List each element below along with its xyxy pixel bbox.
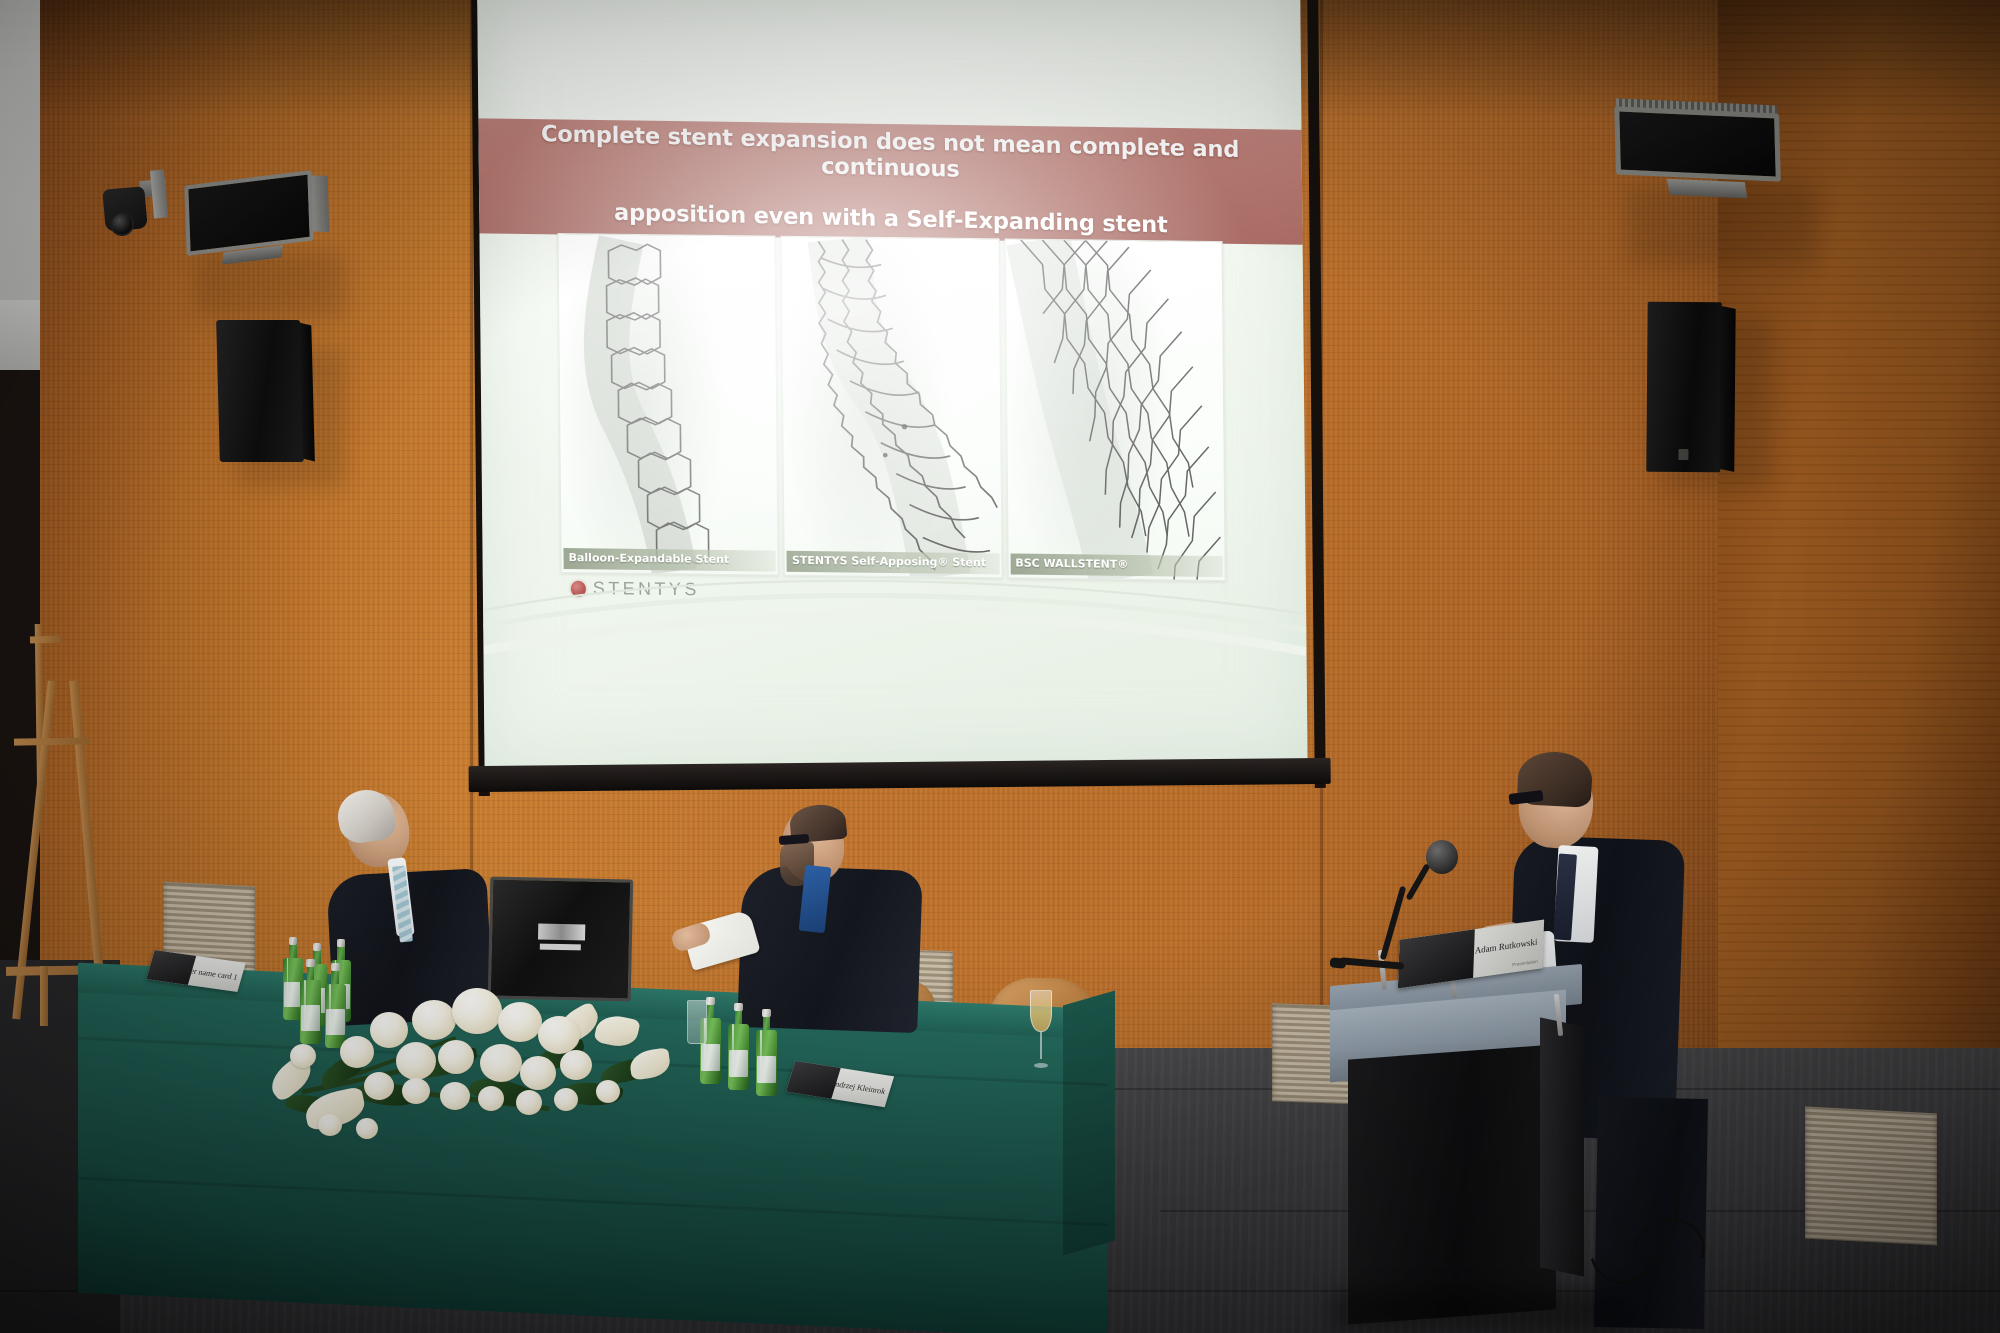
screen-surface: Complete stent expansion does not mean c… [477, 0, 1307, 771]
champagne-flute[interactable] [1030, 990, 1052, 1068]
water-bottle[interactable] [728, 1006, 749, 1090]
panel-table-right-face [1063, 991, 1115, 1256]
camera-lens-icon [110, 212, 134, 236]
balloon-expandable-stent-image [558, 234, 778, 575]
wall-vent [1805, 1107, 1937, 1246]
wall-left-white-lower [0, 300, 40, 370]
podium-shadow [1330, 1290, 1630, 1330]
stent-panel: STENTYS Self-Apposing® Stent [781, 236, 1003, 579]
water-bottle[interactable] [756, 1012, 777, 1096]
speaker-side [1719, 306, 1735, 472]
table-name-card-name: Andrzej Kleinrok [828, 1079, 886, 1096]
speaker-brand-badge-icon [1678, 449, 1688, 460]
presentation-slide: Complete stent expansion does not mean c… [477, 0, 1307, 771]
loudspeaker-right [1646, 302, 1721, 473]
drinking-glass[interactable] [687, 1000, 707, 1044]
device-shadow [196, 252, 346, 318]
speaker-face [1646, 302, 1721, 473]
speaker-face [216, 320, 304, 462]
water-bottle[interactable] [300, 962, 321, 1044]
podium-name-plate-subtitle: Presentation [1512, 959, 1538, 968]
loudspeaker-left [216, 320, 304, 462]
bsc-wallstent-image [1005, 239, 1225, 580]
monitor-label-sticker-2 [540, 943, 580, 950]
podium-name-plate-name: Adam Rutkowski [1475, 937, 1538, 956]
stent-panel: BSC WALLSTENT® [1004, 238, 1226, 581]
stent-panel: Balloon-Expandable Stent [557, 233, 779, 576]
wall-monitor-right [1614, 106, 1781, 181]
monitor-label-sticker [538, 924, 586, 941]
stentys-self-apposing-stent-image [782, 237, 1002, 578]
monitor-screen [1614, 106, 1781, 181]
water-bottle[interactable] [325, 966, 346, 1048]
projection-screen: Complete stent expansion does not mean c… [477, 0, 1320, 798]
podium-side [1540, 1017, 1584, 1276]
slide-title-band: Complete stent expansion does not mean c… [478, 118, 1302, 244]
screenshot-root: Complete stent expansion does not mean c… [0, 0, 2000, 1333]
podium-body [1348, 1044, 1556, 1324]
panelist-torso [737, 865, 923, 1033]
confidence-monitor [488, 877, 634, 1002]
device-shadow [1628, 186, 1818, 266]
stent-image-panels: Balloon-Expandable Stent [557, 233, 1225, 581]
slide-swoosh-decoration [483, 554, 1307, 683]
slide-title-line-1: Complete stent expansion does not mean c… [506, 121, 1274, 190]
